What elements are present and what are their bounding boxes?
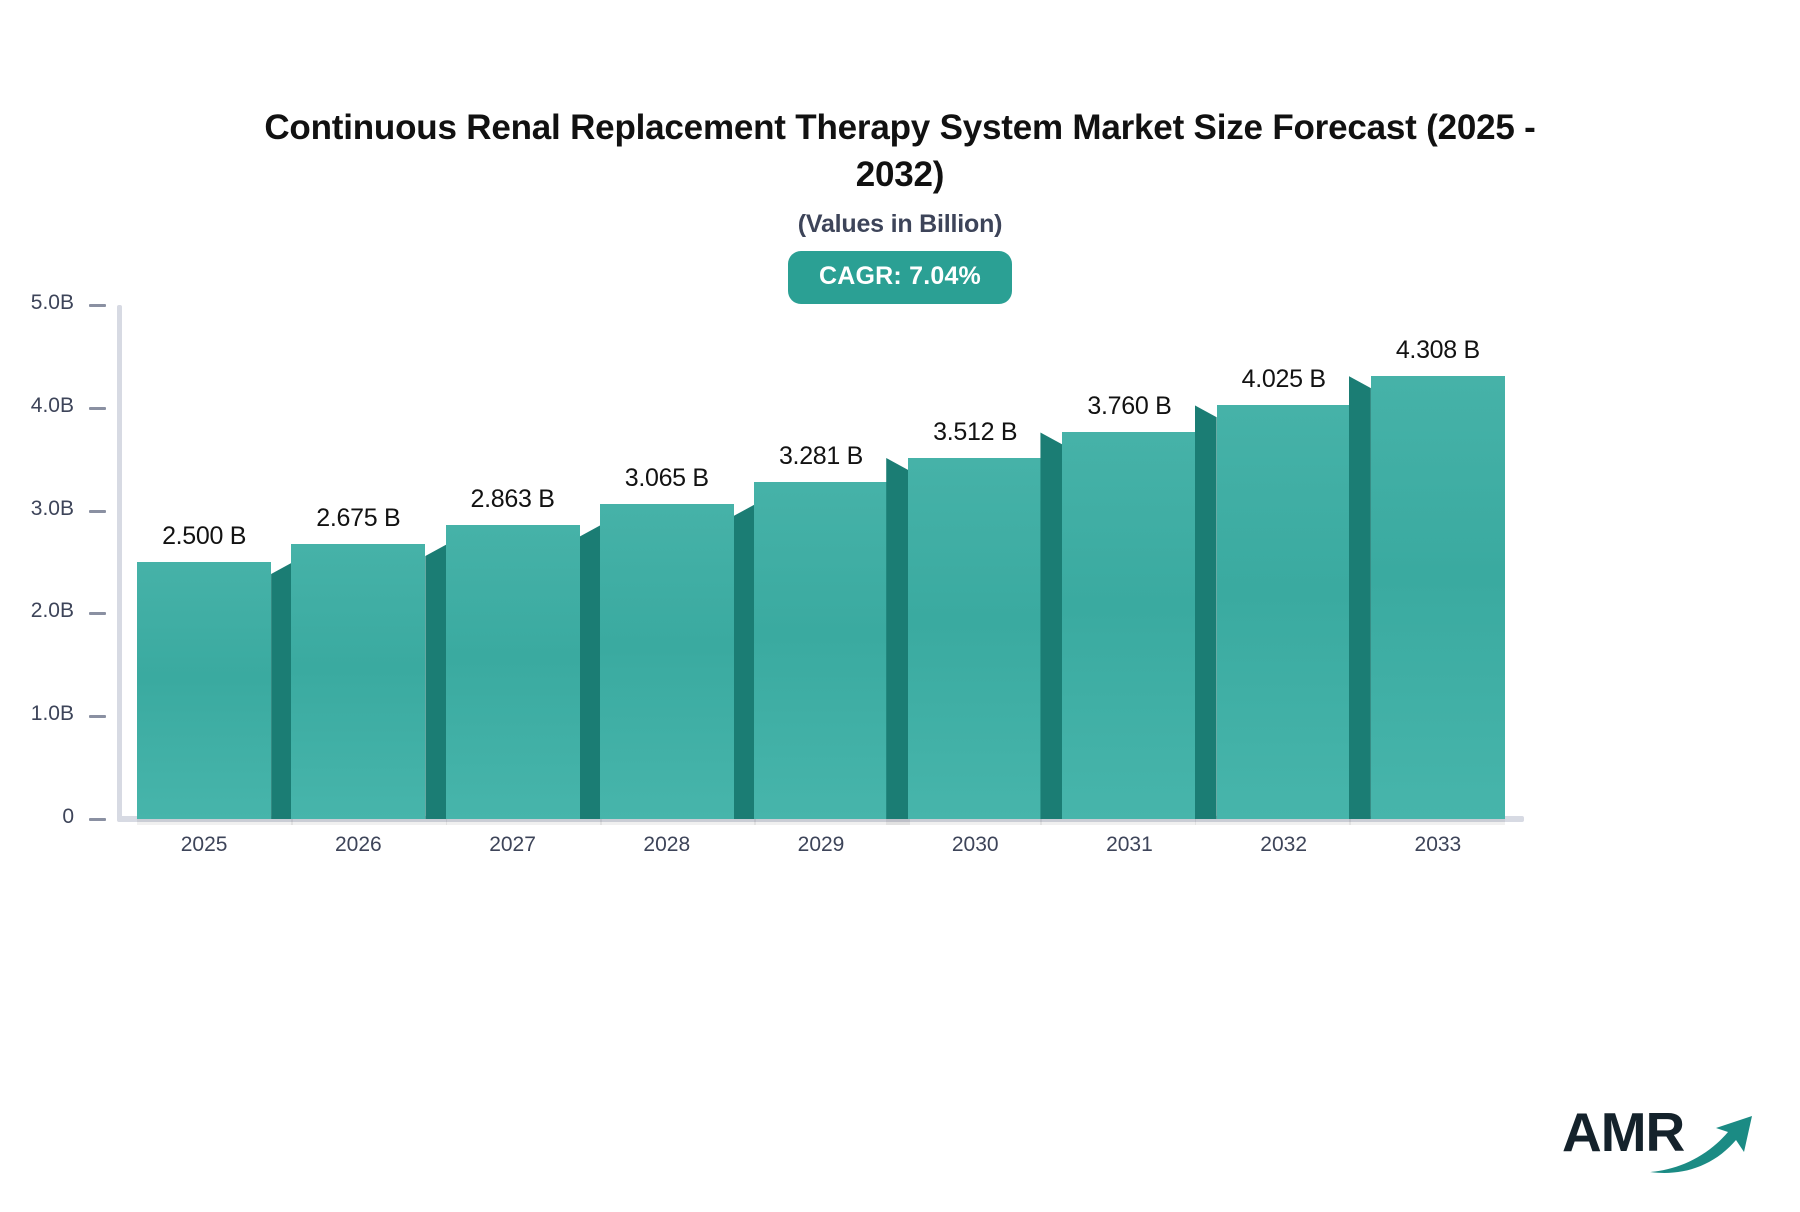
- bar-side-face: [734, 504, 756, 819]
- chart-canvas: Continuous Renal Replacement Therapy Sys…: [0, 0, 1800, 1212]
- bar-front-face: [1062, 432, 1196, 819]
- y-axis-tick-mark: [89, 612, 106, 615]
- bar-side-face: [271, 562, 293, 819]
- x-axis-category-label: 2028: [643, 833, 690, 857]
- amr-logo: AMR: [1562, 1096, 1752, 1174]
- y-axis-tick-mark: [89, 510, 106, 513]
- bar-side-face: [425, 544, 447, 819]
- bar-front-face: [600, 504, 734, 819]
- bar-front-face: [754, 482, 888, 819]
- bar-column[interactable]: 3.281 B2029: [754, 482, 888, 819]
- y-axis-tick-label: 4.0B: [31, 394, 74, 418]
- y-axis-tick-mark: [89, 304, 106, 307]
- bar-front-face: [908, 458, 1042, 819]
- y-axis-tick-mark: [89, 407, 106, 410]
- bar-side-face: [886, 458, 908, 819]
- bar-shadow: [1195, 819, 1351, 825]
- bar-value-label: 3.281 B: [779, 442, 863, 471]
- bar-front-face: [1371, 376, 1505, 819]
- bar-front-face: [446, 525, 580, 819]
- y-axis-tick-label: 0: [62, 805, 74, 829]
- bar-value-label: 4.025 B: [1242, 365, 1326, 394]
- bar-value-label: 2.500 B: [162, 522, 246, 551]
- bar-front-face: [1217, 405, 1351, 819]
- bar-shadow: [1040, 819, 1196, 825]
- y-axis-tick-label: 1.0B: [31, 702, 74, 726]
- bar-column[interactable]: 2.500 B2025: [137, 562, 271, 819]
- y-axis-line: [117, 305, 122, 821]
- y-axis-tick-label: 2.0B: [31, 599, 74, 623]
- y-axis-tick-label: 5.0B: [31, 291, 74, 315]
- bar-shadow: [446, 819, 602, 825]
- bar-side-face: [1040, 432, 1062, 819]
- bar-value-label: 2.863 B: [471, 485, 555, 514]
- bar-shadow: [886, 819, 1042, 825]
- trend-up-arrow-icon: [1648, 1114, 1758, 1176]
- plot-area: 5.0B4.0B3.0B2.0B1.0B0 2.500 B20252.675 B…: [0, 0, 1800, 1212]
- x-axis-category-label: 2027: [489, 833, 536, 857]
- bar-front-face: [291, 544, 425, 819]
- bar-value-label: 3.512 B: [933, 418, 1017, 447]
- x-axis-category-label: 2025: [181, 833, 228, 857]
- x-axis-category-label: 2026: [335, 833, 382, 857]
- bar-column[interactable]: 3.065 B2028: [600, 504, 734, 819]
- bar-column[interactable]: 4.308 B2033: [1371, 376, 1505, 819]
- bar-side-face: [1195, 405, 1217, 819]
- bar-side-face: [580, 525, 602, 819]
- y-axis-tick-mark: [89, 818, 106, 821]
- bar-value-label: 3.760 B: [1087, 392, 1171, 421]
- y-axis-tick-mark: [89, 715, 106, 718]
- bar-column[interactable]: 3.760 B2031: [1062, 432, 1196, 819]
- x-axis-category-label: 2029: [798, 833, 845, 857]
- bar-column[interactable]: 3.512 B2030: [908, 458, 1042, 819]
- bar-value-label: 4.308 B: [1396, 336, 1480, 365]
- bar-shadow: [600, 819, 756, 825]
- x-axis-category-label: 2030: [952, 833, 999, 857]
- bar-shadow: [1349, 819, 1505, 825]
- bar-column[interactable]: 4.025 B2032: [1217, 405, 1351, 819]
- x-axis-category-label: 2032: [1260, 833, 1307, 857]
- bar-column[interactable]: 2.863 B2027: [446, 525, 580, 819]
- bar-value-label: 3.065 B: [625, 464, 709, 493]
- bar-front-face: [137, 562, 271, 819]
- x-axis-category-label: 2031: [1106, 833, 1153, 857]
- x-axis-category-label: 2033: [1415, 833, 1462, 857]
- bar-side-face: [1349, 376, 1371, 819]
- bar-shadow: [137, 819, 293, 825]
- y-axis-tick-label: 3.0B: [31, 497, 74, 521]
- bar-shadow: [291, 819, 447, 825]
- bar-value-label: 2.675 B: [316, 504, 400, 533]
- bar-column[interactable]: 2.675 B2026: [291, 544, 425, 819]
